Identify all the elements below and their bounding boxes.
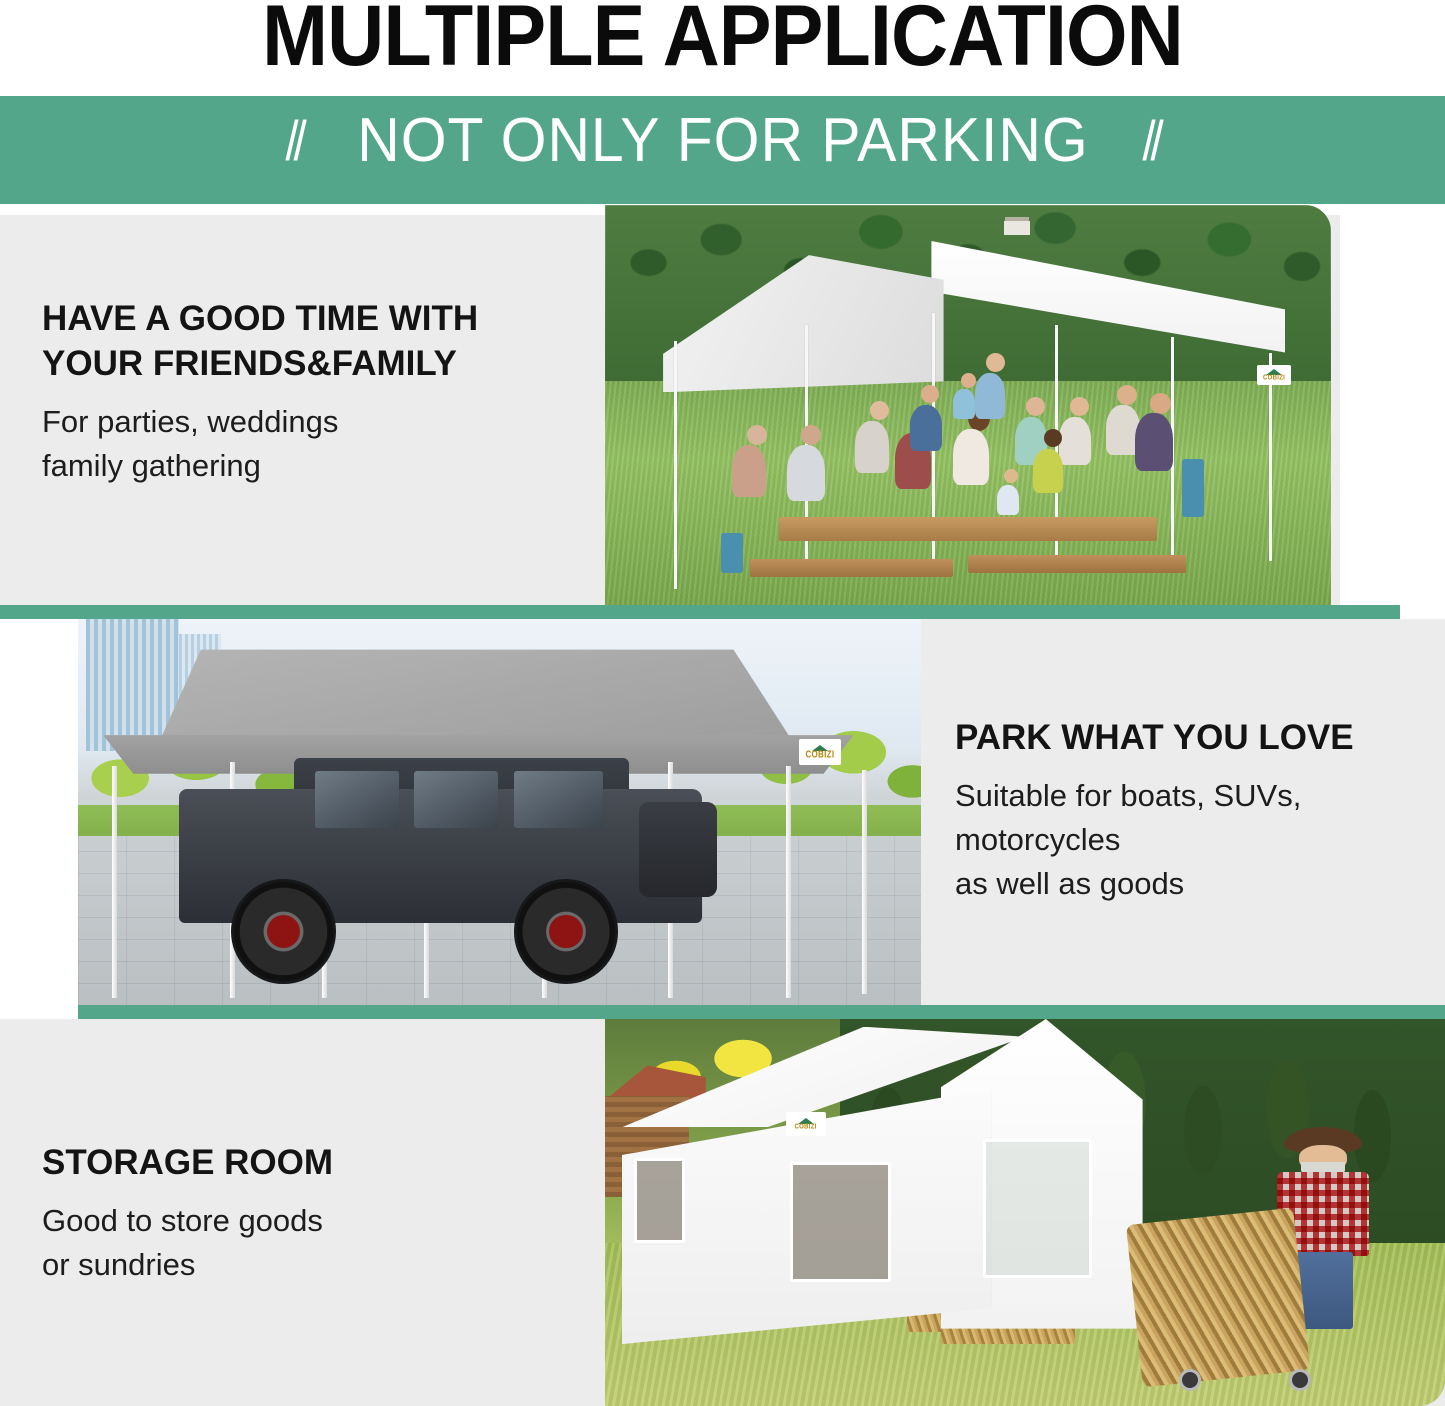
photo-family-gathering: COBIZI — [605, 205, 1331, 605]
photo-storage-tent: COBIZI — [605, 1019, 1445, 1406]
divider-row2 — [0, 605, 1400, 619]
subtext-storage-line2: or sundries — [42, 1243, 562, 1287]
subtext-park-line1: Suitable for boats, SUVs, — [955, 774, 1425, 818]
section-park-what-you-love: COBIZI PARK WHAT YOU LOVE Suitable for b… — [0, 605, 1445, 1005]
brand-logo-photo2: COBIZI — [799, 739, 841, 765]
section-storage-room: STORAGE ROOM Good to store goods or sund… — [0, 1005, 1445, 1406]
heading-storage: STORAGE ROOM — [42, 1140, 562, 1185]
header-banner: // NOT ONLY FOR PARKING // — [0, 96, 1445, 190]
header-title-bar: MULTIPLE APPLICATION — [0, 0, 1445, 96]
heading-friends-family-line2: YOUR FRIENDS&FAMILY — [42, 341, 587, 386]
suv-vehicle — [179, 758, 702, 975]
subtext-friends-family-line2: family gathering — [42, 444, 587, 488]
brand-name: COBIZI — [795, 1123, 817, 1131]
subtext-storage: Good to store goods or sundries — [42, 1199, 562, 1287]
slash-right-icon: // — [1143, 112, 1159, 170]
bench-left — [750, 559, 953, 577]
bench-right — [968, 555, 1186, 573]
page-title: MULTIPLE APPLICATION — [58, 0, 1387, 88]
banner-subtitle: NOT ONLY FOR PARKING — [357, 109, 1088, 173]
subtext-friends-family: For parties, weddings family gathering — [42, 400, 587, 488]
subtext-park: Suitable for boats, SUVs, motorcycles as… — [955, 774, 1425, 906]
cart-wheel-left — [1179, 1369, 1201, 1391]
heading-park: PARK WHAT YOU LOVE — [955, 715, 1425, 760]
picnic-table — [779, 517, 1157, 541]
text-block-park: PARK WHAT YOU LOVE Suitable for boats, S… — [955, 715, 1425, 906]
hay-bale-on-cart — [1126, 1208, 1310, 1387]
tent-window-small — [634, 1158, 684, 1243]
brand-logo-photo3: COBIZI — [786, 1112, 826, 1136]
brand-name: COBIZI — [1263, 374, 1285, 382]
tent-door-opening — [983, 1139, 1092, 1278]
divider-top — [0, 190, 1445, 204]
subtext-friends-family-line1: For parties, weddings — [42, 400, 587, 444]
subtext-park-line3: as well as goods — [955, 862, 1425, 906]
blue-chair — [1182, 459, 1204, 517]
text-block-friends-family: HAVE A GOOD TIME WITH YOUR FRIENDS&FAMIL… — [42, 296, 587, 488]
heading-friends-family-line1: HAVE A GOOD TIME WITH — [42, 296, 587, 341]
section-friends-family: HAVE A GOOD TIME WITH YOUR FRIENDS&FAMIL… — [0, 190, 1445, 605]
subtext-storage-line1: Good to store goods — [42, 1199, 562, 1243]
slash-left-icon: // — [286, 112, 302, 170]
blue-stool — [721, 533, 743, 573]
cart-wheel-right — [1289, 1369, 1311, 1391]
brand-logo-photo1: COBIZI — [1257, 365, 1291, 385]
divider-row3 — [78, 1005, 1445, 1019]
subtext-park-line2: motorcycles — [955, 818, 1425, 862]
tent-window-large — [790, 1162, 891, 1282]
text-block-storage: STORAGE ROOM Good to store goods or sund… — [42, 1140, 562, 1287]
photo-suv-carport: COBIZI — [78, 619, 921, 1006]
brand-name: COBIZI — [805, 750, 834, 760]
